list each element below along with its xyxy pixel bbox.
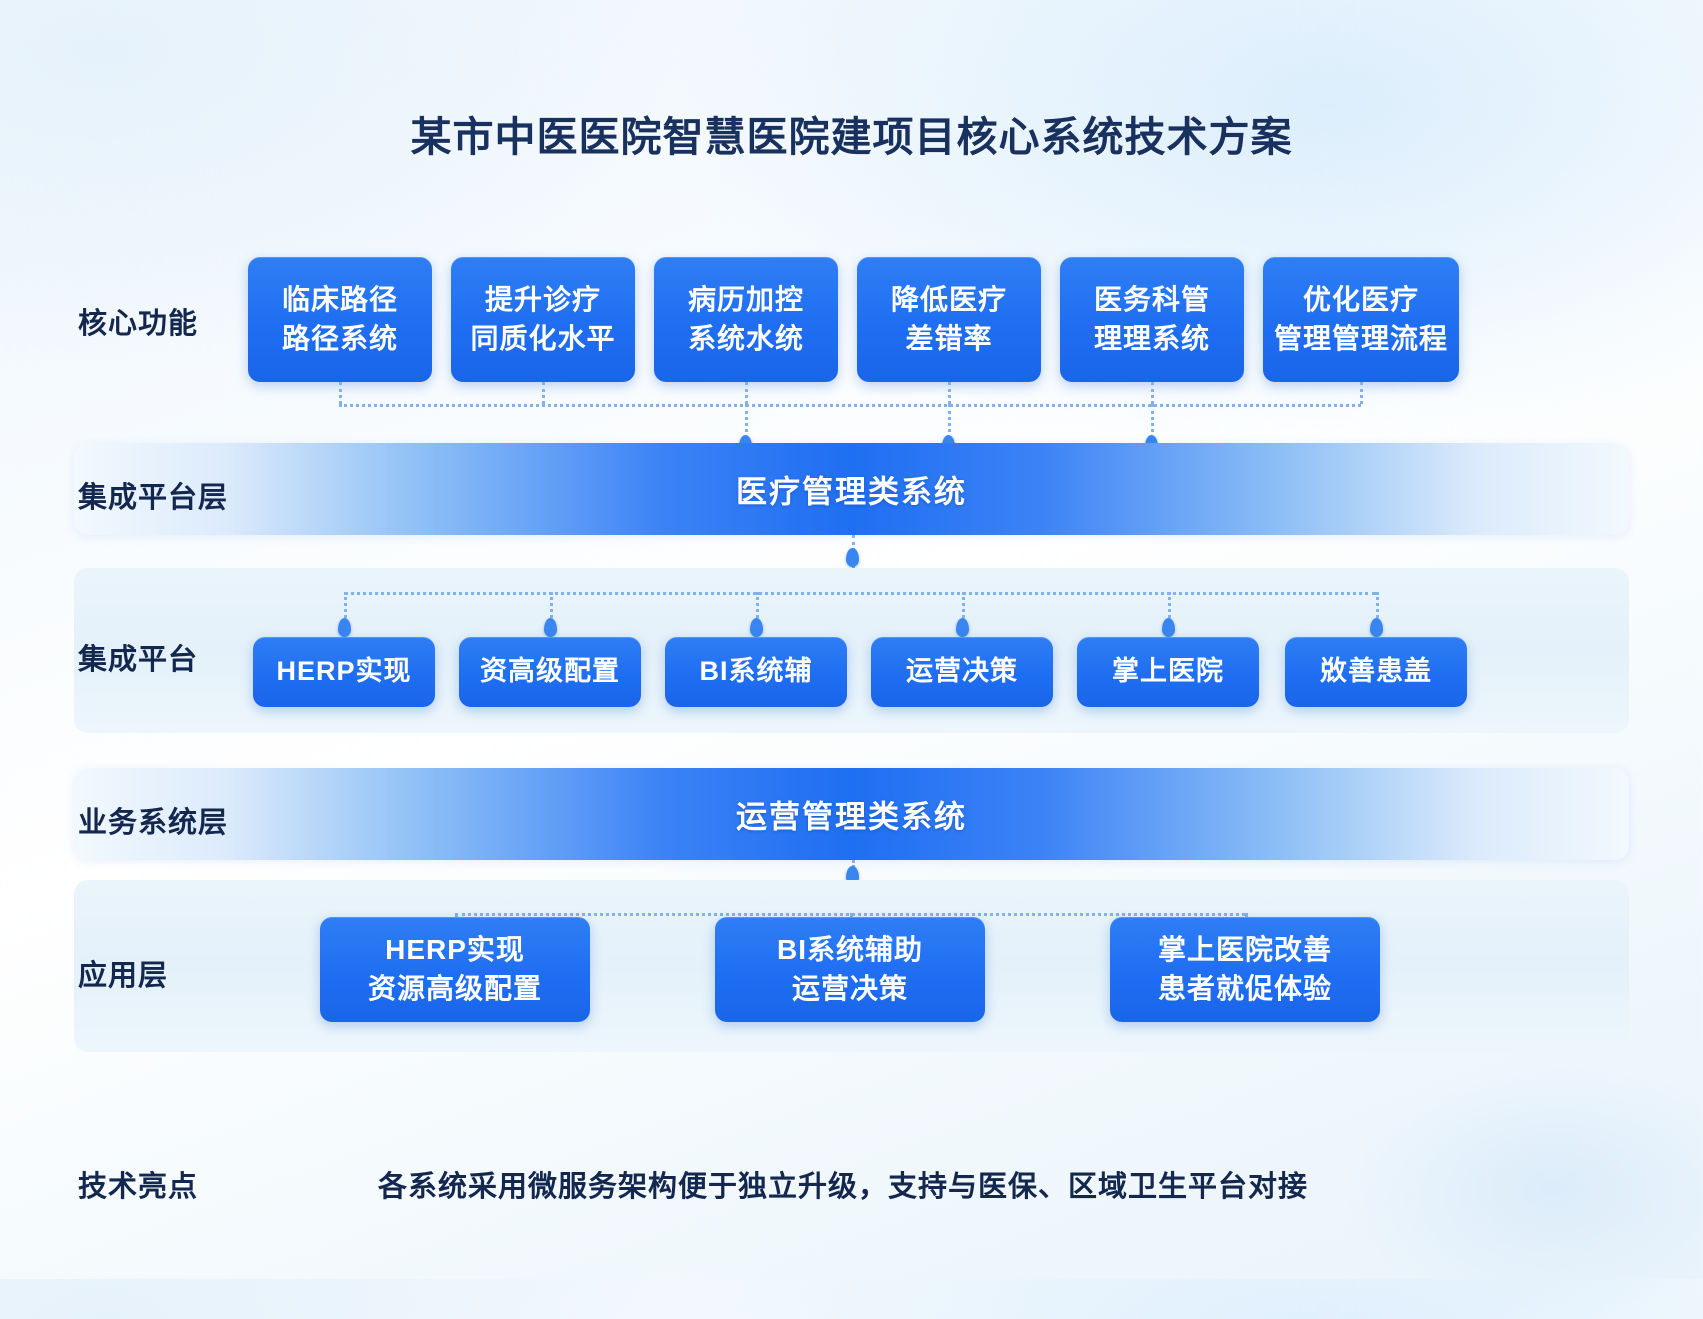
core-box-5-line1: 医务科管	[1094, 281, 1210, 320]
connector-core-stub-1	[339, 382, 342, 404]
platform-box-2[interactable]: 资高级配置	[459, 637, 641, 707]
platform-box-3[interactable]: BI系统辅	[665, 637, 847, 707]
band-business-system-layer: 运营管理类系统	[74, 768, 1629, 860]
connector-core-stub-2	[542, 382, 545, 404]
platform-box-4-label: 运营决策	[906, 653, 1018, 690]
platform-box-1-label: HERP实现	[276, 653, 411, 690]
platform-box-1[interactable]: HERP实现	[253, 637, 435, 707]
core-box-3-line2: 系统水统	[688, 320, 804, 359]
connector-core-stub-4	[948, 382, 951, 404]
platform-box-6-label: 敚善患盖	[1320, 653, 1432, 690]
application-box-2-line2: 运营决策	[777, 970, 923, 1009]
layer-label-tech-highlights: 技术亮点	[78, 1163, 298, 1205]
connector-pin-platform-1	[338, 618, 351, 637]
core-box-1[interactable]: 临床路径 路径系统	[248, 257, 432, 382]
core-box-6-line2: 管理管理流程	[1274, 320, 1448, 359]
platform-box-3-label: BI系统辅	[700, 653, 813, 690]
application-box-1-line1: HERP实现	[368, 931, 542, 970]
connector-core-stub-5	[1151, 382, 1154, 404]
core-box-1-line1: 临床路径	[282, 281, 398, 320]
tech-highlights-text: 各系统采用微服务架构便于独立升级，支持与医保、区域卫生平台对接	[378, 1163, 1308, 1205]
core-box-4[interactable]: 降低医疗 差错率	[857, 257, 1041, 382]
platform-box-4[interactable]: 运营决策	[871, 637, 1053, 707]
core-box-6-line1: 优化医疗	[1274, 281, 1448, 320]
corner-glow-decoration	[1343, 1059, 1703, 1319]
connector-core-bus	[339, 404, 1361, 407]
core-box-1-line2: 路径系统	[282, 320, 398, 359]
application-box-3[interactable]: 掌上医院改善 患者就促体验	[1110, 917, 1380, 1022]
connector-core-stub-3	[745, 382, 748, 404]
core-box-4-line1: 降低医疗	[891, 281, 1007, 320]
application-box-3-line2: 患者就促体验	[1158, 970, 1332, 1009]
diagram-canvas: 某市中医医院智慧医院建项目核心系统技术方案 核心功能 临床路径 路径系统 提升诊…	[0, 0, 1703, 1279]
layer-label-application-layer: 应用层	[78, 952, 298, 994]
band-integration-platform-layer-text: 医疗管理类系统	[74, 467, 1629, 512]
connector-pin-platform-2	[544, 618, 557, 637]
connector-core-drop-4	[948, 404, 951, 439]
core-box-2-line1: 提升诊疗	[470, 281, 615, 320]
core-box-2-line2: 同质化水平	[470, 320, 615, 359]
connector-pin-platform-6	[1370, 618, 1383, 637]
connector-core-drop-5	[1151, 404, 1154, 439]
application-box-3-line1: 掌上医院改善	[1158, 931, 1332, 970]
connector-core-stub-6	[1360, 382, 1363, 404]
core-box-5[interactable]: 医务科管 理理系统	[1060, 257, 1244, 382]
core-box-4-line2: 差错率	[891, 320, 1007, 359]
connector-pin-platform-3	[750, 618, 763, 637]
core-box-3-line1: 病历加控	[688, 281, 804, 320]
connector-pin-band1	[846, 548, 859, 567]
core-box-6[interactable]: 优化医疗 管理管理流程	[1263, 257, 1459, 382]
platform-box-2-label: 资高级配置	[480, 653, 620, 690]
layer-label-business-system-layer: 业务系统层	[78, 799, 298, 841]
band-business-system-layer-text: 运营管理类系统	[74, 792, 1629, 837]
layer-label-integration-platform-layer: 集成平台层	[78, 474, 298, 516]
connector-pin-platform-4	[956, 618, 969, 637]
application-box-2[interactable]: BI系统辅助 运营决策	[715, 917, 985, 1022]
core-box-5-line2: 理理系统	[1094, 320, 1210, 359]
connector-platform-bus	[344, 592, 1376, 595]
page-title: 某市中医医院智慧医院建项目核心系统技术方案	[0, 103, 1703, 163]
application-box-2-line1: BI系统辅助	[777, 931, 923, 970]
application-box-1[interactable]: HERP实现 资源高级配置	[320, 917, 590, 1022]
core-box-3[interactable]: 病历加控 系统水统	[654, 257, 838, 382]
platform-box-6[interactable]: 敚善患盖	[1285, 637, 1467, 707]
platform-box-5[interactable]: 掌上医院	[1077, 637, 1259, 707]
core-box-2[interactable]: 提升诊疗 同质化水平	[451, 257, 635, 382]
connector-core-drop-3	[745, 404, 748, 439]
platform-box-5-label: 掌上医院	[1112, 653, 1224, 690]
band-integration-platform-layer: 医疗管理类系统	[74, 443, 1629, 535]
connector-pin-platform-5	[1162, 618, 1175, 637]
application-box-1-line2: 资源高级配置	[368, 970, 542, 1009]
